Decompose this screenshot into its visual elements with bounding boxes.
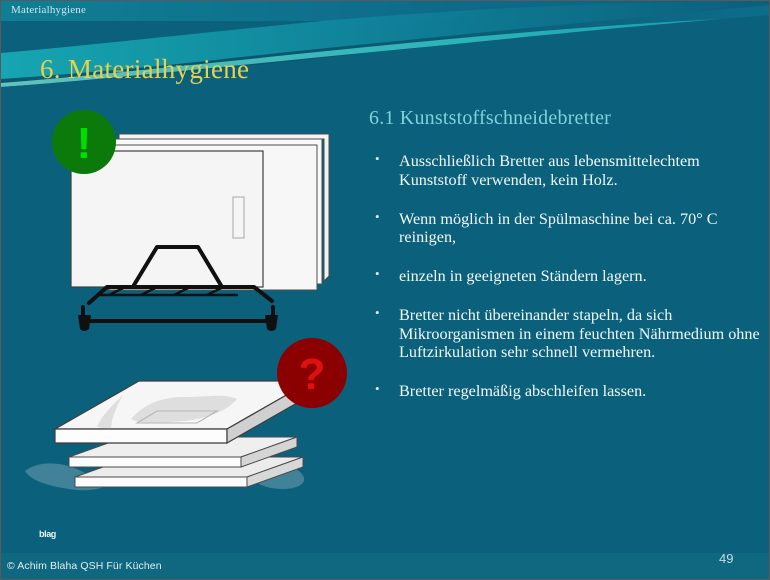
- list-item: Bretter nicht übereinander stapeln, da s…: [369, 306, 761, 362]
- breadcrumb: Materialhygiene: [11, 4, 86, 16]
- slide: Materialhygiene 6. Materialhygiene: [0, 0, 770, 580]
- page-number: 49: [719, 551, 733, 566]
- list-item: Bretter regelmäßig abschleifen lassen.: [369, 382, 761, 401]
- bullet-list: Ausschließlich Bretter aus lebensmittele…: [369, 152, 761, 401]
- page-title: 6. Materialhygiene: [40, 54, 249, 85]
- content-column: 6.1 Kunststoffschneidebretter Ausschließ…: [369, 107, 761, 421]
- svg-text:!: !: [77, 119, 92, 168]
- list-item: Wenn möglich in der Spülmaschine bei ca.…: [369, 210, 761, 248]
- illustration-boards-in-rack: !: [41, 101, 351, 341]
- bad-practice-badge: ?: [277, 338, 347, 408]
- list-item: einzeln in geeigneten Ständern lagern.: [369, 267, 761, 286]
- list-item: Ausschließlich Bretter aus lebensmittele…: [369, 152, 761, 190]
- illustration-boards-stacked: ?: [19, 331, 364, 531]
- section-subtitle: 6.1 Kunststoffschneidebretter: [369, 107, 761, 130]
- brand-mark: blag: [39, 529, 56, 539]
- copyright-credit: © Achim Blaha QSH Für Küchen: [7, 560, 162, 572]
- svg-text:?: ?: [299, 350, 326, 399]
- good-practice-badge: !: [52, 110, 116, 174]
